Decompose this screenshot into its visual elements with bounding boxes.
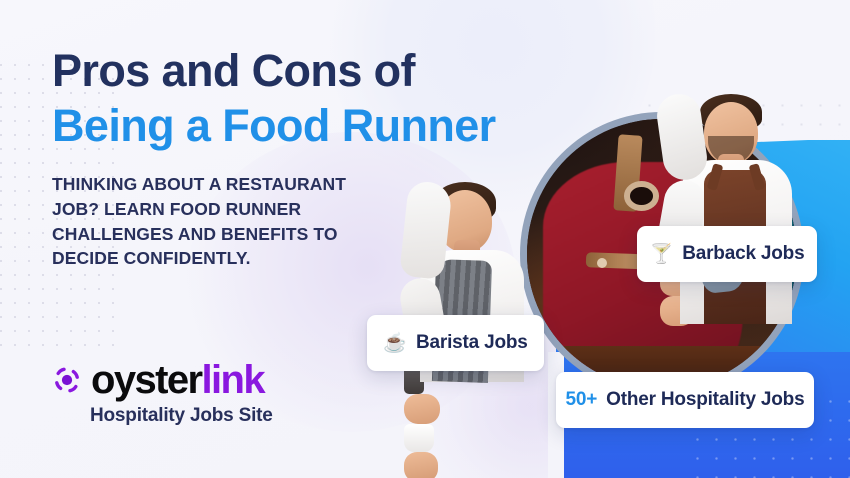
headline-line-2: Being a Food Runner [52, 98, 496, 154]
logo-word-oyster: oyster [91, 358, 201, 402]
person-barback [660, 94, 840, 324]
logo-tagline: Hospitality Jobs Site [90, 405, 273, 427]
banner-canvas: Pros and Cons of Being a Food Runner Thi… [0, 0, 850, 478]
card-other-hospitality-jobs[interactable]: 50+ Other Hospitality Jobs [556, 372, 814, 428]
barista-right-hand [404, 394, 440, 424]
logo-row: oysterlink [52, 360, 273, 400]
card-barback-label: Barback Jobs [682, 243, 804, 265]
barista-cup [404, 424, 434, 452]
oysterlink-orbit-icon [52, 365, 82, 395]
logo-word-link: link [201, 358, 264, 402]
card-barista-label: Barista Jobs [416, 332, 528, 354]
card-barista-jobs[interactable]: ☕ Barista Jobs [367, 315, 544, 371]
card-other-count: 50+ [566, 389, 598, 411]
logo-wordmark: oysterlink [91, 360, 264, 400]
cocktail-glass-icon: 🍸 [650, 245, 674, 264]
brand-logo[interactable]: oysterlink Hospitality Jobs Site [52, 360, 273, 427]
photo-apron-ring-upper [624, 181, 659, 211]
barista-left-hand [404, 452, 438, 478]
page-title: Pros and Cons of Being a Food Runner [52, 44, 496, 154]
coffee-cup-icon: ☕ [383, 334, 407, 353]
headline-line-1: Pros and Cons of [52, 44, 496, 98]
card-other-label: Other Hospitality Jobs [606, 389, 804, 411]
subheadline: Thinking about a restaurant job? Learn f… [52, 172, 382, 271]
card-barback-jobs[interactable]: 🍸 Barback Jobs [637, 226, 817, 282]
